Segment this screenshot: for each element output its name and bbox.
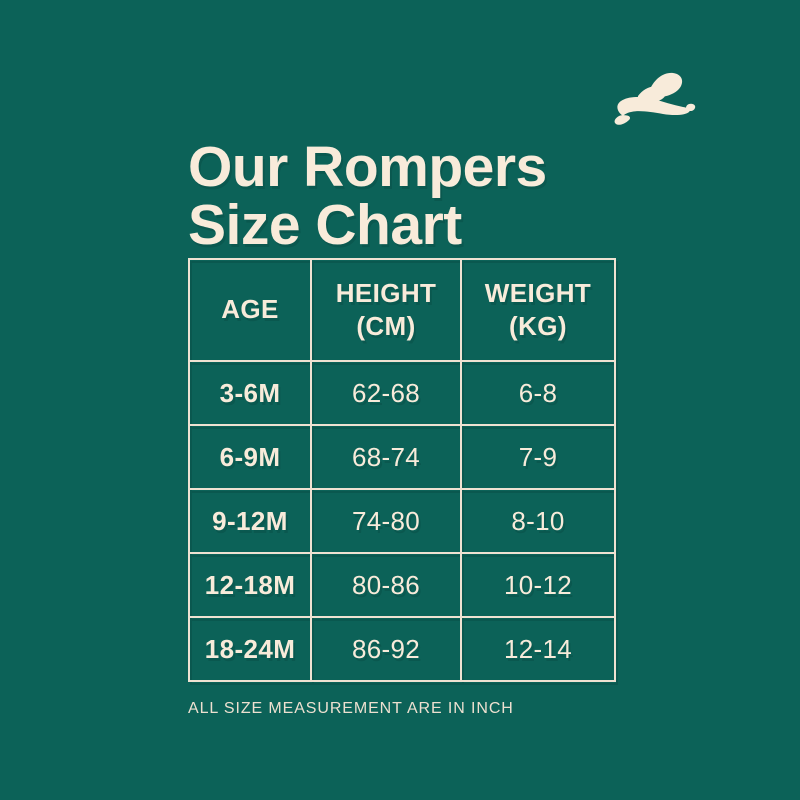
column-header-height: HEIGHT (CM) <box>311 259 461 361</box>
table-row: 12-18M 80-86 10-12 <box>189 553 615 617</box>
column-header-height-unit: (CM) <box>312 310 460 343</box>
measurement-note: ALL SIZE MEASUREMENT ARE IN INCH <box>188 700 514 718</box>
column-header-weight-label: WEIGHT <box>485 278 591 308</box>
column-header-age-label: AGE <box>221 294 279 324</box>
table-row: 6-9M 68-74 7-9 <box>189 425 615 489</box>
table-row: 3-6M 62-68 6-8 <box>189 361 615 425</box>
cell-weight: 6-8 <box>461 361 615 425</box>
table-header-row: AGE HEIGHT (CM) WEIGHT (KG) <box>189 259 615 361</box>
cell-height: 62-68 <box>311 361 461 425</box>
cell-weight: 12-14 <box>461 617 615 681</box>
column-header-weight-unit: (KG) <box>462 310 614 343</box>
cell-weight: 8-10 <box>461 489 615 553</box>
page-title: Our Rompers Size Chart <box>188 138 628 254</box>
cell-weight: 7-9 <box>461 425 615 489</box>
cell-age: 3-6M <box>189 361 311 425</box>
table-body: 3-6M 62-68 6-8 6-9M 68-74 7-9 9-12M 74-8… <box>189 361 615 681</box>
page-title-line-1: Our Rompers <box>188 138 628 196</box>
cell-height: 74-80 <box>311 489 461 553</box>
table-row: 9-12M 74-80 8-10 <box>189 489 615 553</box>
page-title-line-2: Size Chart <box>188 196 628 254</box>
cell-age: 12-18M <box>189 553 311 617</box>
leaping-rabbit-icon <box>605 66 697 132</box>
cell-age: 9-12M <box>189 489 311 553</box>
column-header-height-label: HEIGHT <box>336 278 437 308</box>
table-row: 18-24M 86-92 12-14 <box>189 617 615 681</box>
cell-weight: 10-12 <box>461 553 615 617</box>
brand-logo <box>605 66 697 132</box>
cell-height: 86-92 <box>311 617 461 681</box>
cell-height: 80-86 <box>311 553 461 617</box>
cell-age: 6-9M <box>189 425 311 489</box>
cell-age: 18-24M <box>189 617 311 681</box>
cell-height: 68-74 <box>311 425 461 489</box>
column-header-age: AGE <box>189 259 311 361</box>
size-chart-table: AGE HEIGHT (CM) WEIGHT (KG) 3-6M 62-68 6… <box>188 258 616 682</box>
size-chart-poster: Our Rompers Size Chart AGE HEIGHT (CM) W… <box>0 0 800 800</box>
column-header-weight: WEIGHT (KG) <box>461 259 615 361</box>
table-header: AGE HEIGHT (CM) WEIGHT (KG) <box>189 259 615 361</box>
